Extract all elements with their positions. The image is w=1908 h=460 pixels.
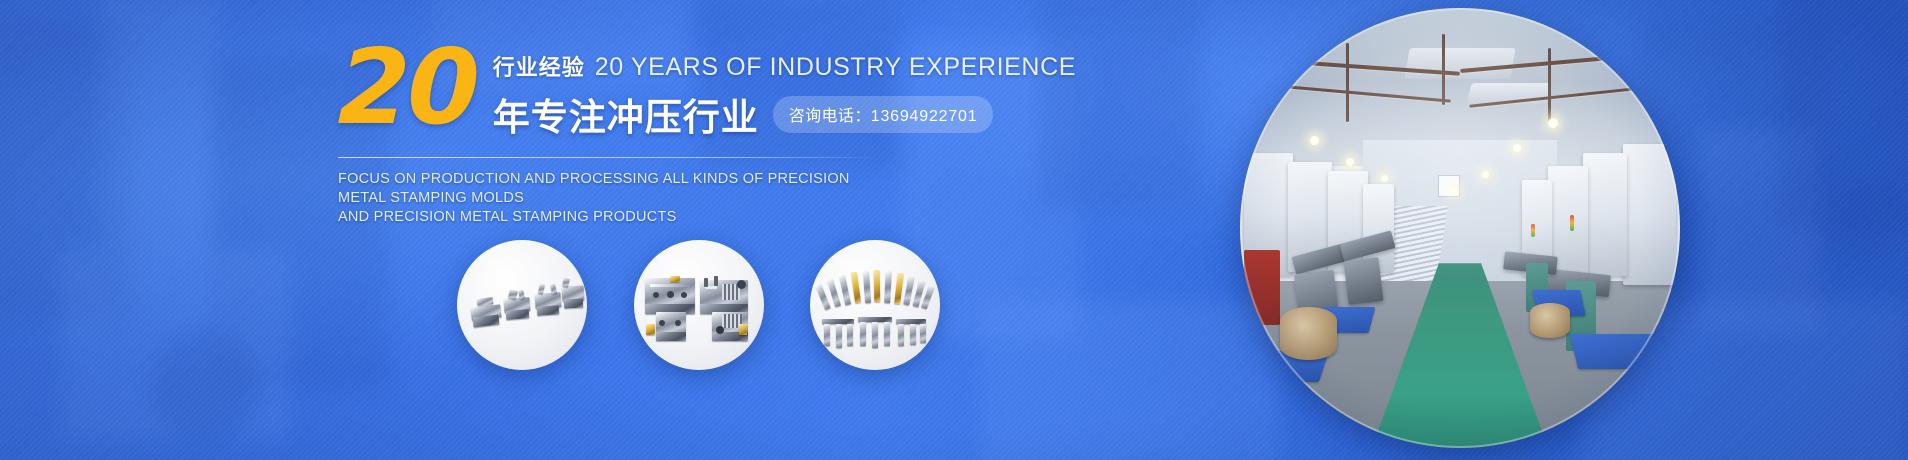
phone-label: 咨询电话： [789, 108, 871, 125]
factory-workshop-photo[interactable] [1240, 8, 1680, 448]
copy-divider [338, 157, 878, 158]
hero-copy-block: 20 行业经验 20 YEARS OF INDUSTRY EXPERIENCE … [338, 40, 898, 227]
phone-number: 13694922701 [871, 108, 978, 125]
precision-stamping-die-parts [634, 240, 764, 370]
headline-cn-big: 年专注冲压行业 [493, 87, 759, 141]
factory-photo-ring [1240, 8, 1680, 448]
headline-row: 20 行业经验 20 YEARS OF INDUSTRY EXPERIENCE … [338, 40, 898, 141]
phone-badge[interactable]: 咨询电话：13694922701 [773, 96, 994, 133]
years-number: 20 [337, 44, 477, 130]
product-circle-usb-connector-shells[interactable] [457, 240, 587, 370]
headline-cn-small: 行业经验 [493, 50, 585, 82]
headline-line-one: 行业经验 20 YEARS OF INDUSTRY EXPERIENCE [493, 50, 1076, 82]
product-circle-precision-stamping-die[interactable] [634, 240, 764, 370]
usb-connector-shells-parts [457, 240, 587, 370]
subtitle-block: FOCUS ON PRODUCTION AND PROCESSING ALL K… [338, 170, 883, 227]
subtitle-line-1: FOCUS ON PRODUCTION AND PROCESSING ALL K… [338, 170, 883, 208]
subtitle-line-2: AND PRECISION METAL STAMPING PRODUCTS [338, 208, 883, 227]
headline-text-group: 行业经验 20 YEARS OF INDUSTRY EXPERIENCE 年专注… [493, 40, 1076, 141]
headline-en: 20 YEARS OF INDUSTRY EXPERIENCE [595, 53, 1076, 82]
headline-line-two: 年专注冲压行业 咨询电话：13694922701 [493, 87, 1076, 141]
product-circle-stamped-terminal-pins[interactable] [810, 240, 940, 370]
company-hero-banner: 20 行业经验 20 YEARS OF INDUSTRY EXPERIENCE … [0, 0, 1908, 460]
stamped-terminal-pins-parts [810, 240, 940, 370]
